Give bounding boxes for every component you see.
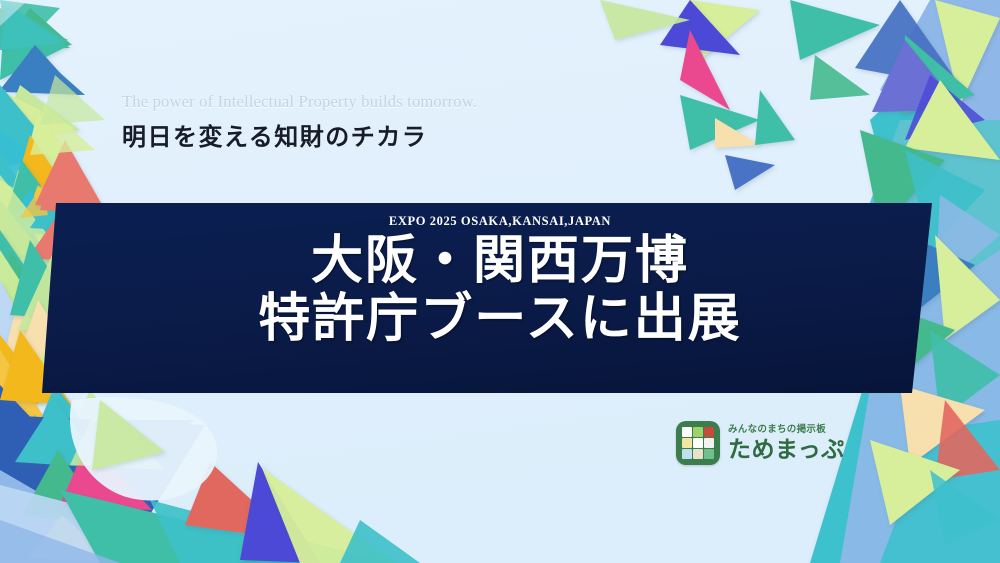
logo-tile [682, 449, 692, 459]
logo-tile [693, 427, 703, 437]
tagline-block: The power of Intellectual Property build… [122, 92, 477, 152]
tagline-english: The power of Intellectual Property build… [122, 92, 477, 112]
logo-tagline: みんなのまちの掲示板 [728, 425, 845, 435]
logo-tile [693, 438, 703, 448]
tamemap-logo: みんなのまちの掲示板 ためまっぷ [676, 421, 845, 465]
tamemap-logo-mark [676, 421, 720, 465]
logo-tile [704, 438, 714, 448]
logo-tile [704, 449, 714, 459]
logo-tile [682, 427, 692, 437]
expo-eyebrow: EXPO 2025 OSAKA,KANSAI,JAPAN [389, 214, 611, 229]
headline-line-2: 特許庁ブースに出展 [258, 292, 741, 348]
logo-name: ためまっぷ [728, 438, 845, 461]
slide-canvas: The power of Intellectual Property build… [0, 0, 1000, 563]
logo-tile [704, 427, 714, 437]
tagline-japanese: 明日を変える知財のチカラ [122, 117, 477, 152]
navy-banner: EXPO 2025 OSAKA,KANSAI,JAPAN 大阪・関西万博 特許庁… [0, 198, 1000, 398]
headline-line-1: 大阪・関西万博 [311, 234, 689, 290]
logo-tile-grid [682, 427, 714, 459]
logo-tile [682, 438, 692, 448]
logo-tile [693, 449, 703, 459]
